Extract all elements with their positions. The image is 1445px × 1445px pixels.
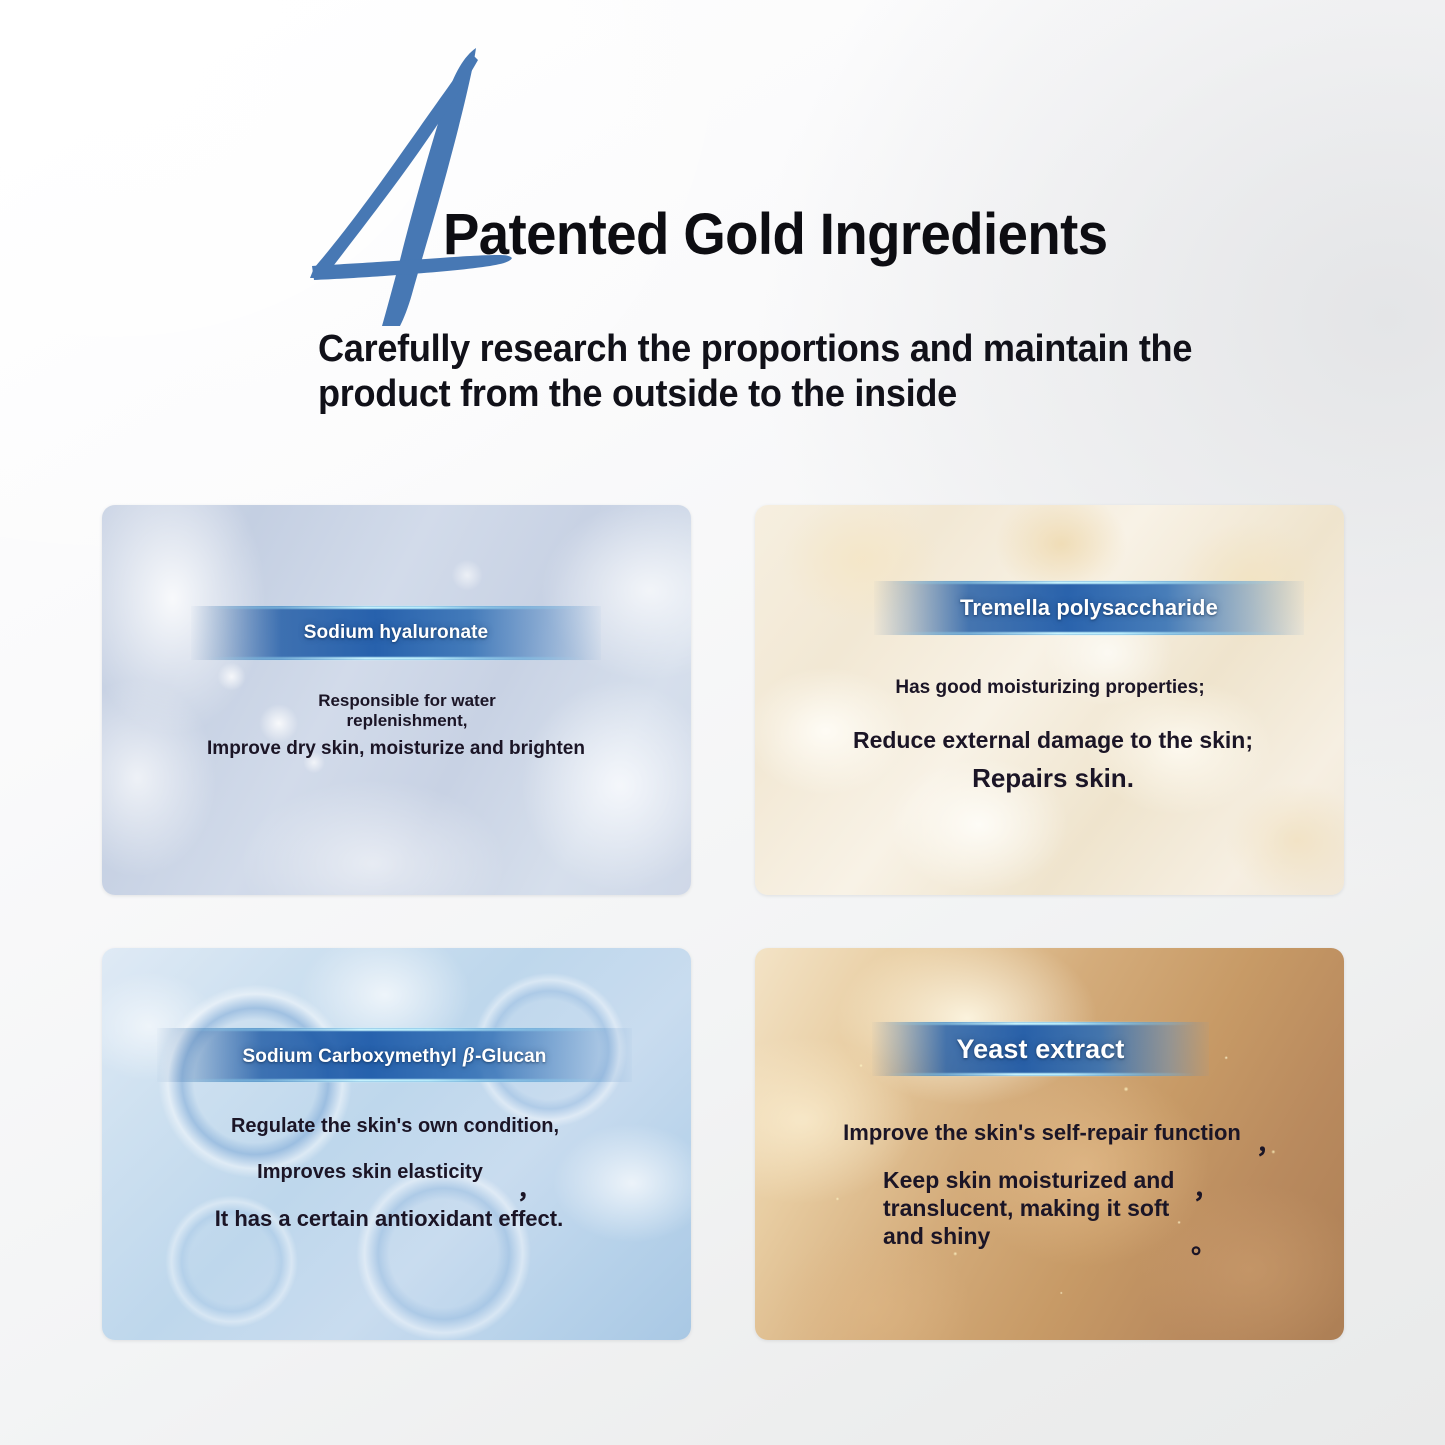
- card-title-banner: Tremella polysaccharide: [874, 581, 1304, 635]
- card-title-banner: Yeast extract: [872, 1022, 1209, 1076]
- card-body-line: It has a certain antioxidant effect.: [154, 1206, 624, 1232]
- card-title-banner: Sodium hyaluronate: [191, 606, 601, 660]
- card-content: Sodium hyaluronate Responsible for water…: [102, 505, 691, 895]
- ingredient-card-yeast-extract[interactable]: Yeast extract Improve the skin's self-re…: [755, 948, 1344, 1340]
- card-title: Sodium Carboxymethyl β-Glucan: [242, 1043, 546, 1068]
- card-content: Tremella polysaccharide Has good moistur…: [755, 505, 1344, 895]
- card-title: Sodium hyaluronate: [304, 622, 488, 644]
- ingredient-card-sodium-carboxymethyl-beta-glucan[interactable]: Sodium Carboxymethyl β-Glucan Regulate t…: [102, 948, 691, 1340]
- ingredient-card-sodium-hyaluronate[interactable]: Sodium hyaluronate Responsible for water…: [102, 505, 691, 895]
- card-title: Yeast extract: [957, 1034, 1125, 1065]
- stray-comma-mark: ，: [517, 1170, 542, 1206]
- ingredient-card-tremella-polysaccharide[interactable]: Tremella polysaccharide Has good moistur…: [755, 505, 1344, 895]
- card-body-line: Improves skin elasticity: [190, 1160, 550, 1184]
- card-body-line: Repairs skin.: [883, 763, 1223, 794]
- subtitle-line-2: product from the outside to the inside: [318, 372, 1230, 417]
- card-content: Yeast extract Improve the skin's self-re…: [755, 948, 1344, 1340]
- stray-comma-mark: ，: [1256, 1124, 1282, 1161]
- card-title: Tremella polysaccharide: [960, 595, 1218, 621]
- card-title-suffix: -Glucan: [475, 1046, 546, 1067]
- card-body-line: Improve the skin's self-repair function: [817, 1120, 1267, 1146]
- subtitle-line-1: Carefully research the proportions and m…: [318, 327, 1230, 372]
- card-body-line: Has good moisturizing properties;: [830, 677, 1270, 700]
- card-title-prefix: Sodium Carboxymethyl: [242, 1046, 462, 1067]
- script-numeral-four-icon: [300, 40, 530, 330]
- card-content: Sodium Carboxymethyl β-Glucan Regulate t…: [102, 948, 691, 1340]
- page-title: Patented Gold Ingredients: [443, 206, 1107, 264]
- card-body-line: Keep skin moisturized and translucent, m…: [883, 1166, 1183, 1250]
- page-subtitle: Carefully research the proportions and m…: [318, 327, 1230, 417]
- stray-period-mark: 。: [1191, 1224, 1217, 1261]
- card-body-line: Improve dry skin, moisturize and brighte…: [176, 738, 616, 761]
- card-body-line: Regulate the skin's own condition,: [180, 1114, 610, 1138]
- infographic-page: Patented Gold Ingredients Carefully rese…: [0, 0, 1445, 1445]
- beta-symbol: β: [462, 1043, 475, 1067]
- card-title-banner: Sodium Carboxymethyl β-Glucan: [157, 1028, 632, 1082]
- card-body-line: Responsible for water replenishment,: [277, 691, 537, 732]
- stray-comma-mark: ，: [1193, 1169, 1219, 1206]
- card-body-line: Reduce external damage to the skin;: [803, 727, 1303, 755]
- header: Patented Gold Ingredients Carefully rese…: [0, 0, 1445, 470]
